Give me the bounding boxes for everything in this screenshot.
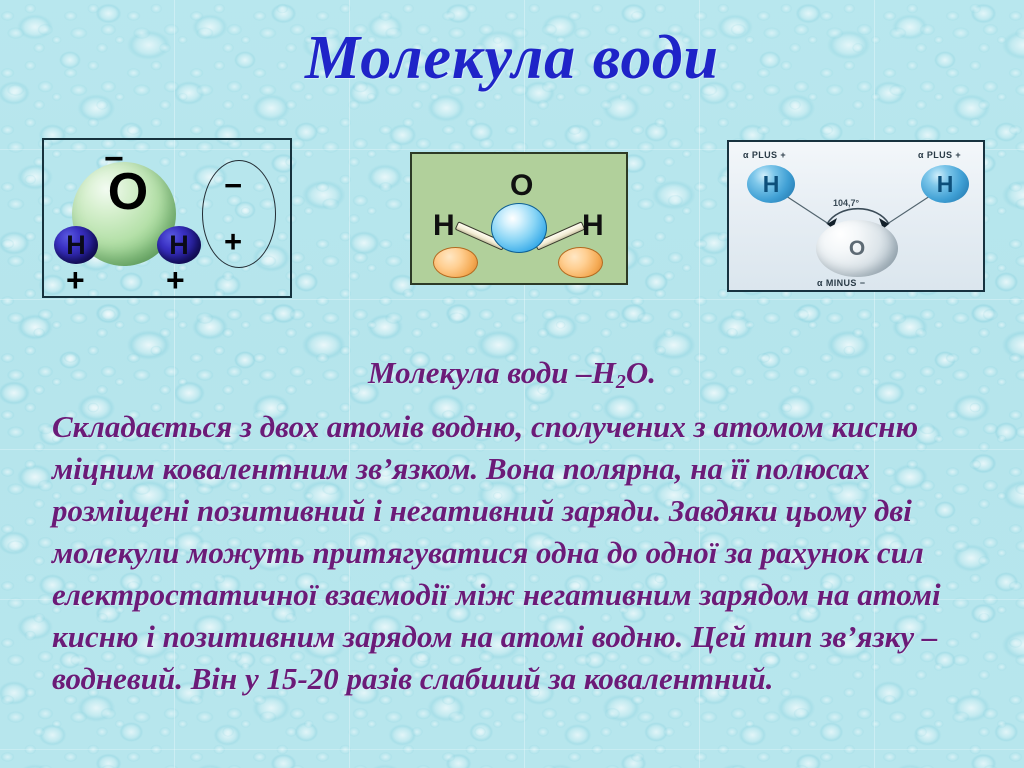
- alpha-minus-label: α MINUS −: [817, 278, 865, 288]
- hydrogen-atom-label-right: H: [582, 211, 604, 241]
- heading-prefix: Молекула води –H: [368, 355, 616, 390]
- oxygen-atom-label: O: [816, 220, 898, 277]
- positive-charge-sign-right: +: [166, 264, 185, 296]
- hydrogen-atom-label-right: H: [921, 165, 969, 203]
- heading-subscript: 2: [616, 371, 626, 393]
- hydrogen-atom-sphere-left: [433, 247, 478, 278]
- hydrogen-atom-label-left: H: [433, 211, 455, 241]
- figure-water-ball-and-stick: O H H: [410, 152, 628, 285]
- body-text-block: Молекула води –H2O. Складається з двох а…: [52, 352, 972, 700]
- bond-angle-label: 104,7°: [833, 198, 859, 208]
- body-heading: Молекула води –H2O.: [52, 352, 972, 398]
- positive-charge-sign-left: +: [66, 264, 85, 296]
- slide-canvas: Молекула води O H H − + + − + O H H: [0, 0, 1024, 768]
- hydrogen-atom-label-left: H: [54, 226, 98, 264]
- figure-water-polarity: H H O α PLUS + α PLUS + α MINUS − 104,7°: [727, 140, 985, 292]
- figure-water-dipole: O H H − + + − +: [42, 138, 292, 298]
- negative-charge-sign-top: −: [104, 142, 124, 176]
- dipole-negative-sign: −: [224, 170, 242, 201]
- oxygen-atom-label: O: [510, 171, 533, 201]
- dipole-positive-sign: +: [224, 226, 242, 257]
- heading-suffix: O.: [626, 355, 656, 390]
- alpha-plus-label-left: α PLUS +: [743, 150, 786, 160]
- slide-title: Молекула води: [0, 26, 1024, 91]
- hydrogen-atom-label-left: H: [747, 165, 795, 203]
- oxygen-atom-sphere: [491, 203, 547, 253]
- hydrogen-atom-sphere-right: [558, 247, 603, 278]
- alpha-plus-label-right: α PLUS +: [918, 150, 961, 160]
- hydrogen-atom-label-right: H: [157, 226, 201, 264]
- body-paragraph: Складається з двох атомів водню, сполуче…: [52, 406, 972, 700]
